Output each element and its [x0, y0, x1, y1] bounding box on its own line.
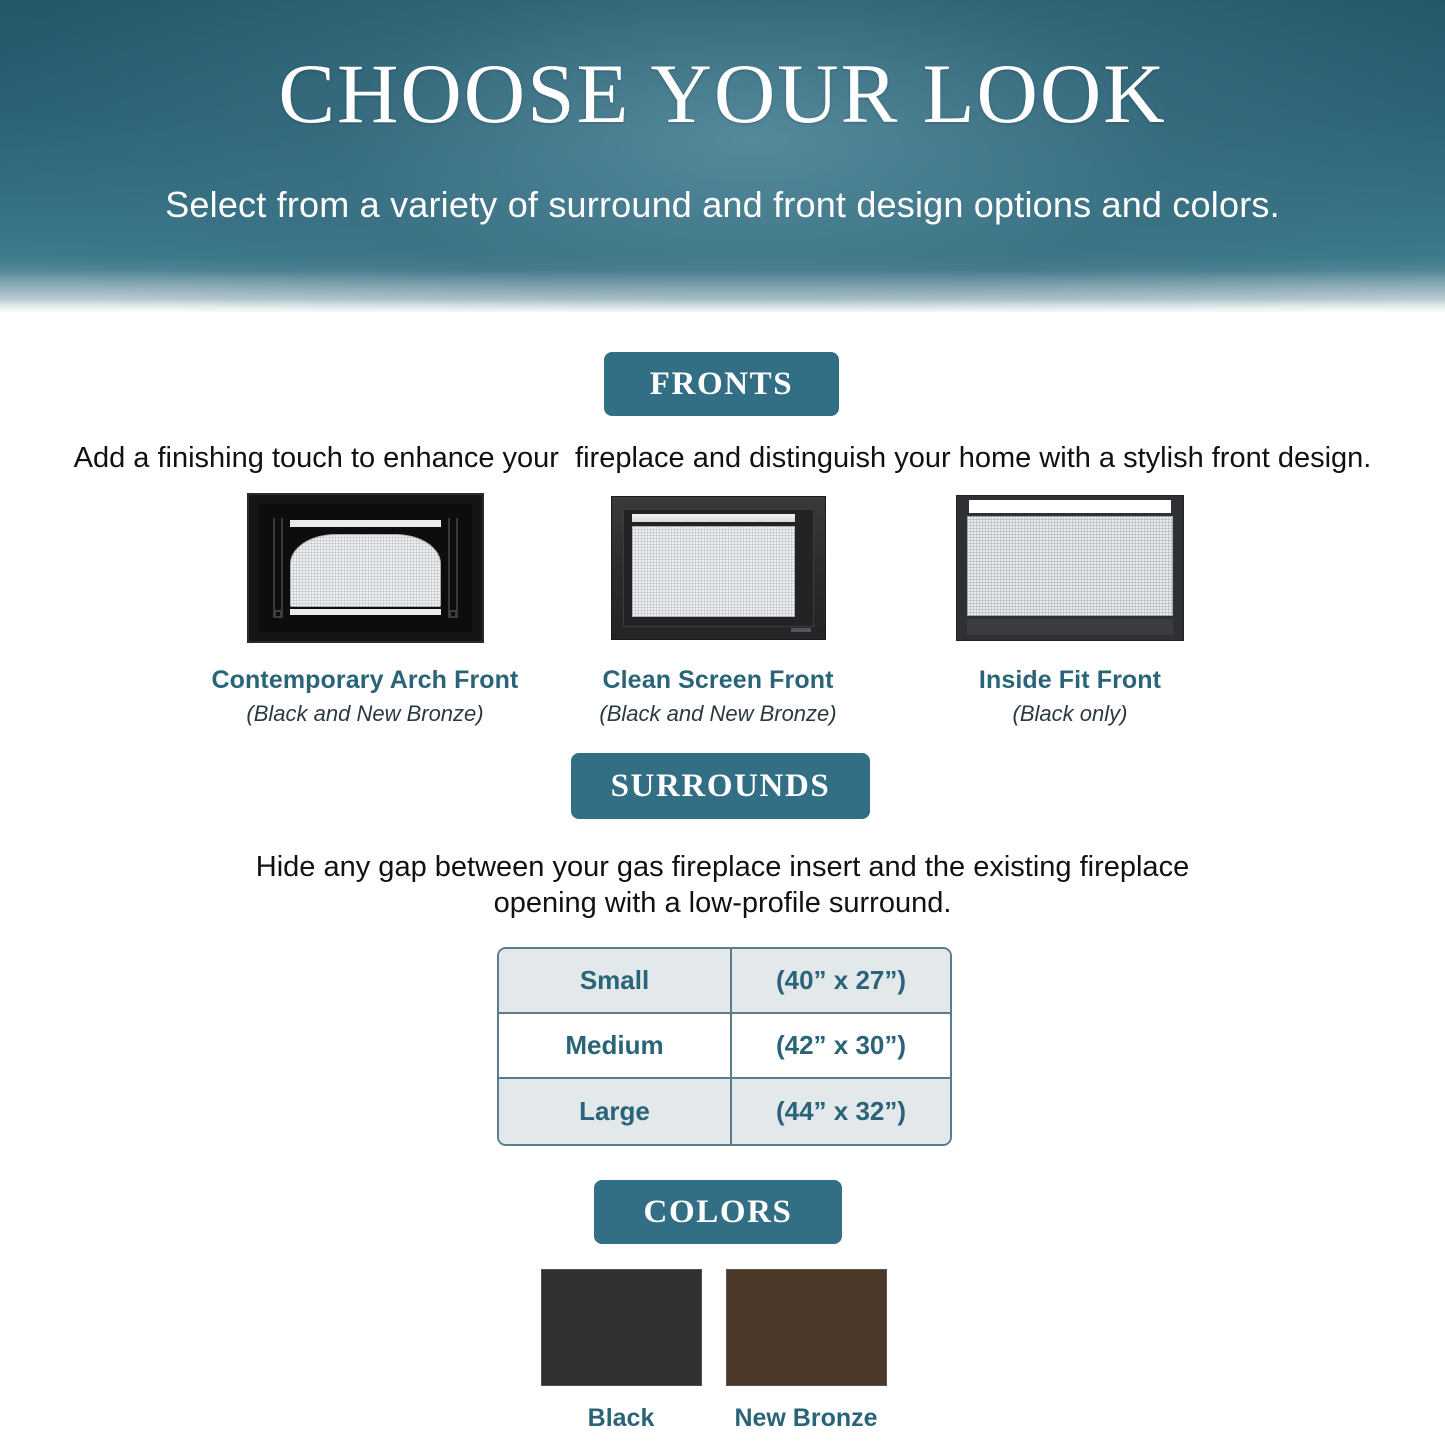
arch-decor-bottom-dot-2 — [400, 609, 407, 615]
inside-front-bottom-bar — [967, 619, 1173, 635]
surround-size-dimensions: (42” x 30”) — [732, 1014, 950, 1079]
page-header: CHOOSE YOUR LOOK Select from a variety o… — [0, 0, 1445, 312]
fronts-gallery: Contemporary Arch Front (Black and New B… — [0, 492, 1445, 722]
front-colors-note-2: (Black only) — [900, 701, 1240, 727]
front-colors-note-0: (Black and New Bronze) — [195, 701, 535, 727]
clean-front-mesh-screen — [632, 526, 795, 617]
surround-size-name: Small — [499, 949, 732, 1014]
front-option-contemporary-arch[interactable]: Contemporary Arch Front (Black and New B… — [195, 492, 535, 727]
fronts-description: Add a finishing touch to enhance your fi… — [0, 442, 1445, 475]
color-swatch-gallery: Black New Bronze — [0, 1269, 1445, 1445]
arch-decor-slot-bottom-right — [357, 609, 441, 615]
arch-front-inner-frame — [259, 504, 472, 632]
arch-decor-dot-2 — [398, 520, 406, 527]
surround-size-dimensions: (40” x 27”) — [732, 949, 950, 1014]
table-row[interactable]: Small (40” x 27”) — [499, 949, 950, 1014]
color-option-new-bronze[interactable]: New Bronze — [706, 1269, 906, 1433]
color-option-black[interactable]: Black — [521, 1269, 721, 1433]
inside-front-frame — [956, 495, 1184, 641]
section-badge-fronts: FRONTS — [604, 352, 839, 416]
arch-decor-bottom-dot-1 — [385, 609, 392, 615]
front-option-inside-fit[interactable]: Inside Fit Front (Black only) — [900, 492, 1240, 727]
arch-decor-vertical-bar-right — [448, 518, 458, 618]
front-colors-note-1: (Black and New Bronze) — [548, 701, 888, 727]
inside-front-mesh-screen — [967, 516, 1173, 616]
header-sheen — [0, 270, 1445, 312]
table-row[interactable]: Medium (42” x 30”) — [499, 1014, 950, 1079]
inside-front-top-bar — [969, 500, 1171, 513]
arch-decor-dot-3 — [413, 520, 421, 527]
surrounds-description: Hide any gap between your gas fireplace … — [222, 850, 1223, 922]
arch-decor-corner-bottom-right — [449, 610, 457, 618]
arch-decor-vertical-bar-left — [273, 518, 283, 618]
section-badge-surrounds: SURROUNDS — [571, 753, 870, 819]
color-label-new-bronze: New Bronze — [706, 1404, 906, 1433]
page-title: CHOOSE YOUR LOOK — [0, 52, 1445, 137]
color-swatch-black[interactable] — [541, 1269, 702, 1386]
front-label-2: Inside Fit Front — [900, 666, 1240, 695]
inside-fit-front-image — [900, 492, 1240, 644]
section-badge-colors: COLORS — [594, 1180, 842, 1244]
contemporary-arch-front-image — [195, 492, 535, 644]
arch-decor-dot-1 — [383, 520, 391, 527]
front-label-1: Clean Screen Front — [548, 666, 888, 695]
front-option-clean-screen[interactable]: Clean Screen Front (Black and New Bronze… — [548, 492, 888, 727]
arch-decor-bottom-dot-3 — [415, 609, 422, 615]
clean-front-top-bar — [632, 514, 795, 522]
front-label-0: Contemporary Arch Front — [195, 666, 535, 695]
clean-screen-front-image — [548, 492, 888, 644]
clean-front-frame — [611, 496, 826, 640]
surround-size-dimensions: (44” x 32”) — [732, 1079, 950, 1144]
color-swatch-new-bronze[interactable] — [726, 1269, 887, 1386]
surround-size-table: Small (40” x 27”) Medium (42” x 30”) Lar… — [497, 947, 952, 1146]
arch-front-frame — [247, 493, 484, 643]
surround-size-name: Large — [499, 1079, 732, 1144]
surround-size-name: Medium — [499, 1014, 732, 1079]
page-subtitle: Select from a variety of surround and fr… — [0, 184, 1445, 226]
arch-front-mesh-screen — [290, 534, 441, 607]
table-row[interactable]: Large (44” x 32”) — [499, 1079, 950, 1144]
color-label-black: Black — [521, 1404, 721, 1433]
clean-front-brand-badge — [791, 628, 811, 632]
arch-decor-corner-bottom-left — [274, 610, 282, 618]
